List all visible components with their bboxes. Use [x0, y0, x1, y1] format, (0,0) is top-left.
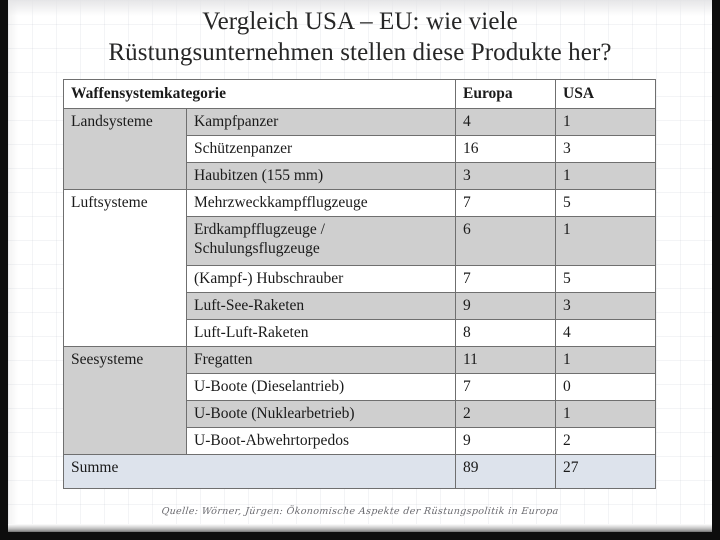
value-usa: 4 [556, 320, 656, 347]
value-usa: 3 [556, 136, 656, 163]
value-usa: 5 [556, 190, 656, 217]
item-label: Erdkampfflugzeuge / Schulungsflugzeuge [187, 217, 456, 266]
value-europa: 9 [456, 428, 556, 455]
weapon-systems-table-wrapper: Waffensystemkategorie Europa USA Landsys… [63, 79, 655, 489]
column-header-usa: USA [556, 80, 656, 109]
page-title-line-1: Vergleich USA – EU: wie viele [8, 6, 712, 37]
value-usa: 0 [556, 374, 656, 401]
page-title: Vergleich USA – EU: wie viele Rüstungsun… [8, 6, 712, 68]
value-usa: 5 [556, 266, 656, 293]
value-usa: 1 [556, 217, 656, 266]
value-usa: 1 [556, 109, 656, 136]
value-europa: 7 [456, 266, 556, 293]
item-label: U-Boote (Dieselantrieb) [187, 374, 456, 401]
value-usa: 1 [556, 163, 656, 190]
value-europa: 7 [456, 190, 556, 217]
table-row: Seesysteme Fregatten 11 1 [64, 347, 656, 374]
slide-canvas: Vergleich USA – EU: wie viele Rüstungsun… [8, 0, 712, 532]
table-row: Landsysteme Kampfpanzer 4 1 [64, 109, 656, 136]
slide-bottom-bevel [8, 524, 712, 532]
value-europa: 8 [456, 320, 556, 347]
item-label: Schützenpanzer [187, 136, 456, 163]
value-europa: 16 [456, 136, 556, 163]
table-header-row: Waffensystemkategorie Europa USA [64, 80, 656, 109]
item-label: Luft-Luft-Raketen [187, 320, 456, 347]
summary-label: Summe [64, 455, 456, 489]
item-label: (Kampf-) Hubschrauber [187, 266, 456, 293]
value-usa: 1 [556, 401, 656, 428]
item-label: Fregatten [187, 347, 456, 374]
value-europa: 2 [456, 401, 556, 428]
table-body: Landsysteme Kampfpanzer 4 1 Schützenpanz… [64, 109, 656, 489]
value-europa: 3 [456, 163, 556, 190]
value-usa: 1 [556, 347, 656, 374]
value-usa: 3 [556, 293, 656, 320]
source-citation: Quelle: Wörner, Jürgen: Ökonomische Aspe… [8, 506, 712, 517]
column-header-europa: Europa [456, 80, 556, 109]
page-title-line-2: Rüstungsunternehmen stellen diese Produk… [8, 37, 712, 68]
item-label: Haubitzen (155 mm) [187, 163, 456, 190]
value-europa: 6 [456, 217, 556, 266]
group-label-landsysteme: Landsysteme [64, 109, 187, 190]
value-europa: 9 [456, 293, 556, 320]
value-europa: 7 [456, 374, 556, 401]
item-label: Luft-See-Raketen [187, 293, 456, 320]
item-label: U-Boote (Nuklearbetrieb) [187, 401, 456, 428]
column-header-category: Waffensystemkategorie [64, 80, 456, 109]
table-row: Luftsysteme Mehrzweckkampfflugzeuge 7 5 [64, 190, 656, 217]
value-europa: 11 [456, 347, 556, 374]
summary-value-europa: 89 [456, 455, 556, 489]
group-label-luftsysteme: Luftsysteme [64, 190, 187, 347]
item-label: Kampfpanzer [187, 109, 456, 136]
item-label: U-Boot-Abwehrtorpedos [187, 428, 456, 455]
summary-value-usa: 27 [556, 455, 656, 489]
value-usa: 2 [556, 428, 656, 455]
table-summary-row: Summe 89 27 [64, 455, 656, 489]
item-label: Mehrzweckkampfflugzeuge [187, 190, 456, 217]
value-europa: 4 [456, 109, 556, 136]
group-label-seesysteme: Seesysteme [64, 347, 187, 455]
weapon-systems-table: Waffensystemkategorie Europa USA Landsys… [63, 79, 656, 489]
